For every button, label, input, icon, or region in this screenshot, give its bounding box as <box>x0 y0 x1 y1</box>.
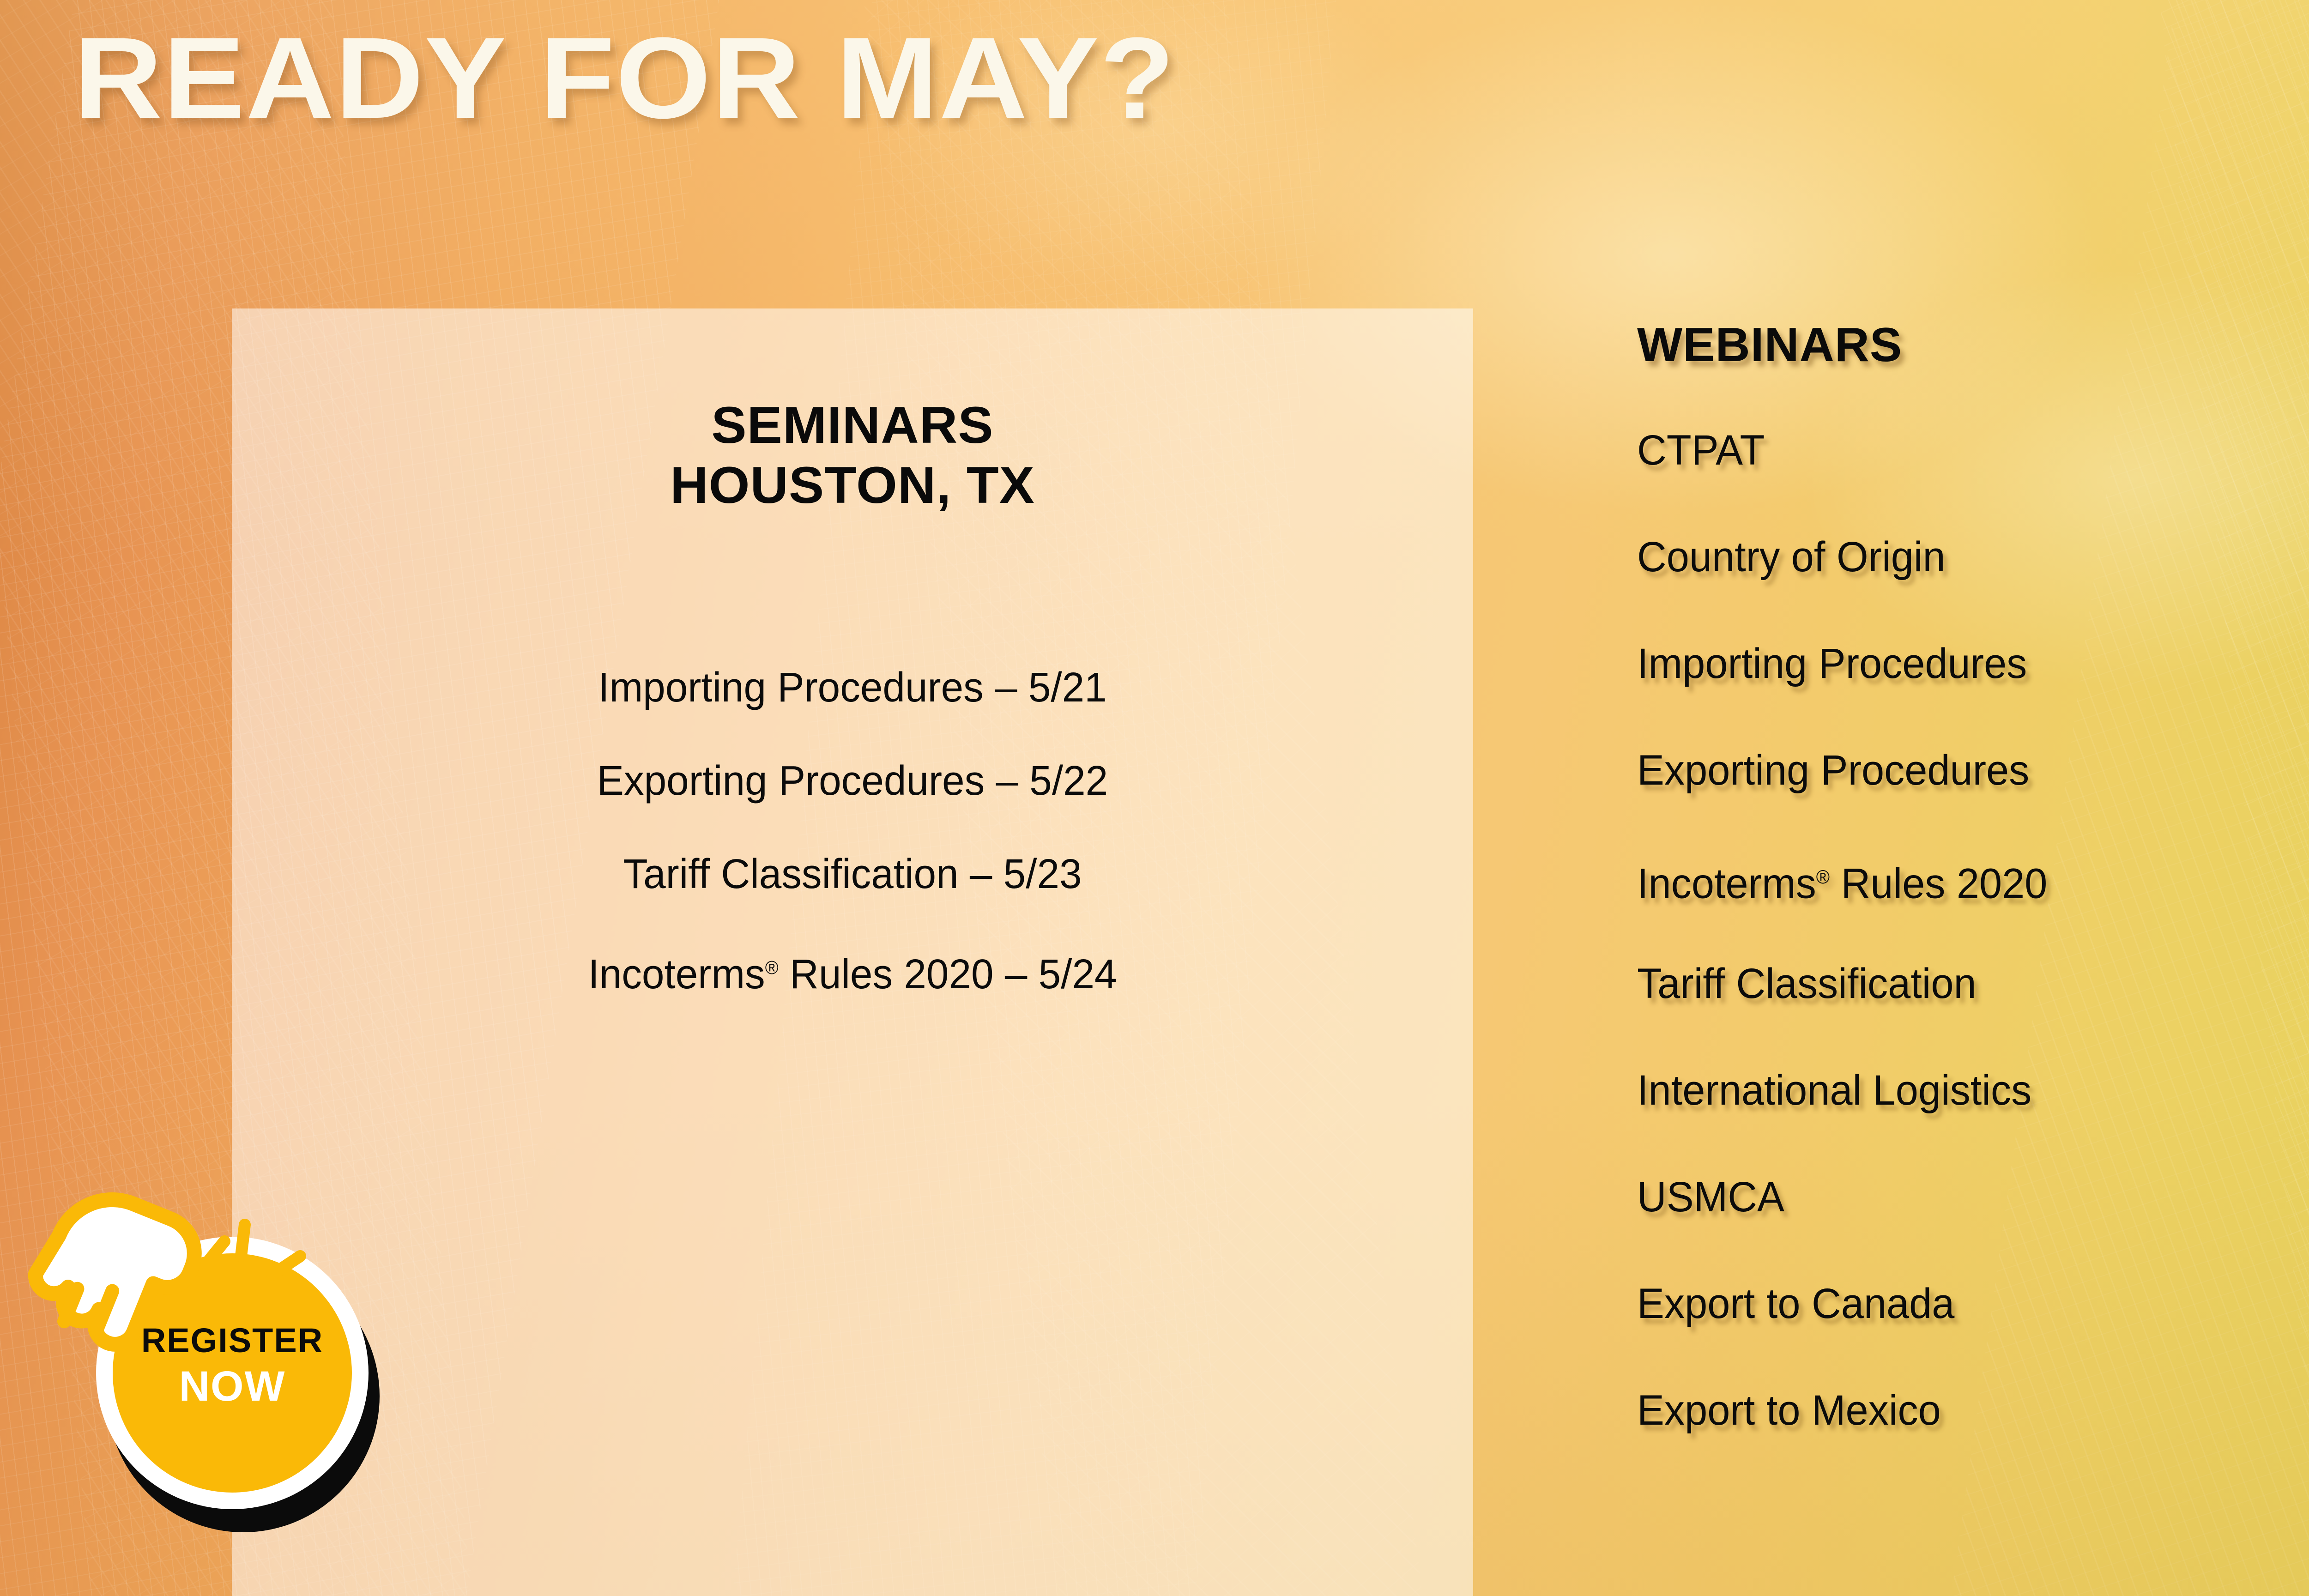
promo-graphic: READY FOR MAY? SEMINARS HOUSTON, TX Impo… <box>0 0 2309 1596</box>
webinars-heading: WEBINARS <box>1637 318 1902 373</box>
seminars-heading-line2: HOUSTON, TX <box>219 455 1486 515</box>
registered-mark: ® <box>1816 866 1830 888</box>
registered-mark: ® <box>765 957 779 978</box>
webinar-label: Exporting Procedures <box>1637 736 2029 805</box>
webinar-row[interactable]: CTPAT 5/8 <box>1637 416 2309 522</box>
webinar-label: Export to Canada <box>1637 1269 1954 1338</box>
webinar-label: Tariff Classification <box>1637 949 1977 1018</box>
seminars-panel: SEMINARS HOUSTON, TX Importing Procedure… <box>232 308 1473 1596</box>
webinar-label: Country of Origin <box>1637 522 1946 592</box>
webinar-row[interactable]: USMCA 5/29 <box>1637 1162 2309 1269</box>
webinar-row[interactable]: Country of Origin 5/9 <box>1637 522 2309 629</box>
webinar-label: USMCA <box>1637 1162 1784 1232</box>
seminar-row[interactable]: Importing Procedures – 5/21 <box>250 641 1454 734</box>
webinar-row[interactable]: Tariff Classification 5/17 <box>1637 949 2309 1056</box>
webinar-row[interactable]: Importing Procedures 5/13 <box>1637 629 2309 736</box>
seminar-title-suffix: Rules 2020 – 5/24 <box>779 951 1117 997</box>
webinar-label: Importing Procedures <box>1637 629 2027 698</box>
webinar-label: International Logistics <box>1637 1056 2031 1125</box>
webinar-label: Incoterms® Rules 2020 <box>1637 842 2047 919</box>
webinar-row[interactable]: Incoterms® Rules 2020 5/16 <box>1637 842 2309 949</box>
seminar-row[interactable]: Incoterms® Rules 2020 – 5/24 <box>250 921 1454 1014</box>
seminars-heading: SEMINARS HOUSTON, TX <box>219 395 1486 515</box>
seminars-list: Importing Procedures – 5/21 Exporting Pr… <box>232 641 1473 1014</box>
seminar-row[interactable]: Tariff Classification – 5/23 <box>250 828 1454 921</box>
register-now-button[interactable]: REGISTER NOW <box>5 1182 383 1552</box>
webinar-row[interactable]: Export to Canada 5/30 <box>1637 1269 2309 1376</box>
webinar-label: Export to Mexico <box>1637 1376 1941 1445</box>
seminar-row[interactable]: Exporting Procedures – 5/22 <box>250 734 1454 828</box>
webinars-list: CTPAT 5/8 Country of Origin 5/9 Importin… <box>1637 416 2309 1482</box>
webinar-row[interactable]: Exporting Procedures 5/15 <box>1637 736 2309 842</box>
pointing-hand-icon <box>2 1179 260 1419</box>
webinar-label: CTPAT <box>1637 416 1765 485</box>
webinar-label-text: Incoterms <box>1637 860 1816 907</box>
seminars-heading-line1: SEMINARS <box>219 395 1486 455</box>
webinar-label-suffix: Rules 2020 <box>1830 860 2047 907</box>
webinar-row[interactable]: International Logistics 5/28 <box>1637 1056 2309 1162</box>
page-title: READY FOR MAY? <box>74 18 1176 139</box>
seminar-title: Incoterms <box>588 951 765 997</box>
webinar-row[interactable]: Export to Mexico 5/31 <box>1637 1376 2309 1482</box>
